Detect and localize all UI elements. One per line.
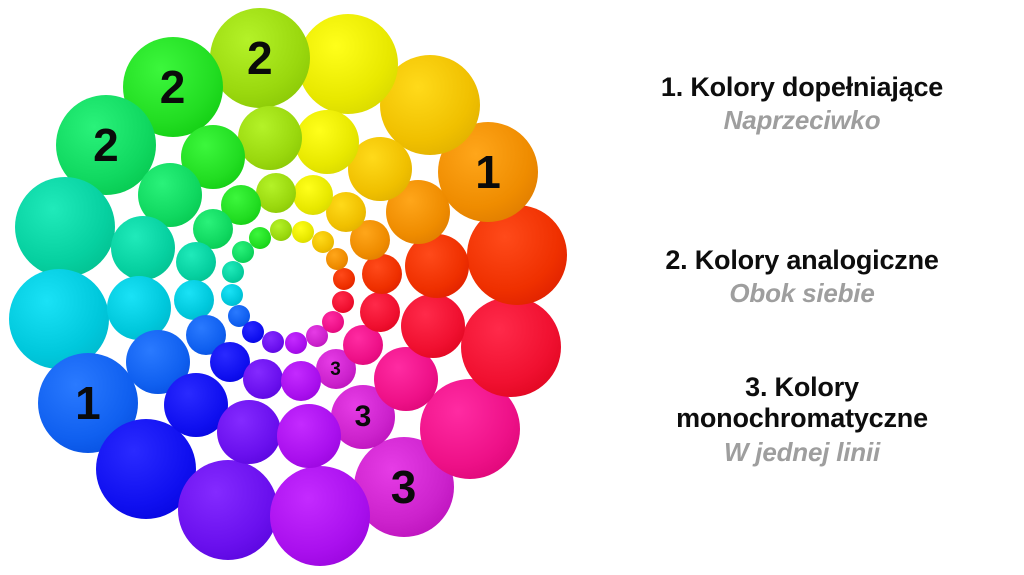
color-dot-purple-ring1 (270, 466, 370, 566)
color-dot-red-ring3 (362, 254, 402, 294)
color-dot-yellow-ring3 (293, 175, 333, 215)
color-dot-orange-ring4 (326, 248, 348, 270)
color-dot-crimson-ring1 (461, 297, 561, 397)
dot-label-monochromatic-ring3: 3 (330, 360, 341, 379)
color-dot-violet-ring1 (178, 460, 278, 560)
color-dot-spring-green-ring2 (111, 216, 175, 280)
dot-label-analogous-ring1: 2 (160, 64, 186, 110)
color-dot-crimson-ring2 (401, 294, 465, 358)
legend-title-analogous: 2. Kolory analogiczne (580, 245, 1024, 276)
color-dot-yellow-green-ring3 (256, 173, 296, 213)
legend-title-monochromatic: 3. Kolory monochromatyczne (580, 372, 1024, 435)
dot-label-complementary-ring1: 1 (475, 149, 501, 195)
color-dot-pink-ring4 (322, 311, 344, 333)
color-dot-amber-ring4 (312, 231, 334, 253)
color-dot-spring-green-ring3 (176, 242, 216, 282)
color-dot-yellow-green-ring4 (270, 219, 292, 241)
legend-subtitle-analogous: Obok siebie (580, 278, 1024, 309)
dot-label-complementary-ring1: 1 (75, 380, 101, 426)
color-dot-violet-ring4 (262, 331, 284, 353)
color-dot-blue-ring4 (242, 321, 264, 343)
color-dot-crimson-ring3 (360, 292, 400, 332)
color-wheel-infographic: 31222133 1. Kolory dopełniające Naprzeci… (0, 0, 1024, 575)
legend-item-analogous: 2. Kolory analogiczne Obok siebie (580, 245, 1024, 309)
color-dot-emerald-ring4 (232, 241, 254, 263)
legend-item-complementary: 1. Kolory dopełniające Naprzeciwko (580, 72, 1024, 136)
dot-label-analogous-ring1: 2 (247, 35, 273, 81)
color-dot-yellow-green-ring1: 2 (210, 8, 310, 108)
color-dot-yellow-ring4 (292, 221, 314, 243)
color-dot-purple-ring4 (285, 332, 307, 354)
color-dot-spring-green-ring4 (222, 261, 244, 283)
color-dot-red-ring4 (333, 268, 355, 290)
color-dot-spring-green-ring1 (15, 177, 115, 277)
color-dot-yellow-green-ring2 (238, 106, 302, 170)
color-dot-purple-ring2 (277, 404, 341, 468)
color-dot-purple-ring3 (281, 361, 321, 401)
dot-label-monochromatic-ring2: 3 (355, 402, 372, 432)
color-dot-cyan-ring4 (221, 284, 243, 306)
legend-item-monochromatic: 3. Kolory monochromatyczne W jednej lini… (580, 372, 1024, 467)
color-dot-yellow-ring1 (298, 14, 398, 114)
color-wheel: 31222133 (0, 0, 580, 575)
color-dot-violet-ring2 (217, 400, 281, 464)
legend-title-complementary: 1. Kolory dopełniające (580, 72, 1024, 103)
color-dot-yellow-ring2 (295, 110, 359, 174)
legend-subtitle-monochromatic: W jednej linii (580, 437, 1024, 468)
dot-label-monochromatic-ring1: 3 (391, 464, 417, 510)
color-dot-crimson-ring4 (332, 291, 354, 313)
color-dot-violet-ring3 (243, 359, 283, 399)
legend-subtitle-complementary: Naprzeciwko (580, 105, 1024, 136)
dot-label-analogous-ring1: 2 (93, 122, 119, 168)
legend-panel: 1. Kolory dopełniające Naprzeciwko 2. Ko… (580, 0, 1024, 575)
